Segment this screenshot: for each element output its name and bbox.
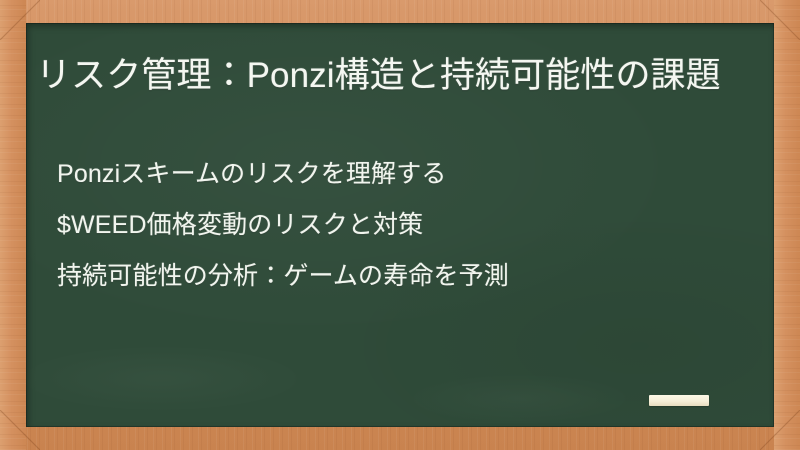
slide-title: リスク管理：Ponzi構造と持続可能性の課題 (36, 53, 752, 99)
bullet-item: $WEED価格変動のリスクと対策 (57, 200, 754, 251)
frame-rail-right (774, 0, 800, 450)
chalk-stick-icon (649, 395, 709, 406)
chalkboard-surface: リスク管理：Ponzi構造と持続可能性の課題 Ponziスキームのリスクを理解す… (26, 23, 774, 427)
bullet-list: Ponziスキームのリスクを理解する $WEED価格変動のリスクと対策 持続可能… (57, 149, 754, 302)
frame-rail-left (0, 0, 26, 450)
bullet-item: Ponziスキームのリスクを理解する (57, 149, 754, 200)
bullet-item: 持続可能性の分析：ゲームの寿命を予測 (57, 251, 754, 302)
chalkboard-slide: リスク管理：Ponzi構造と持続可能性の課題 Ponziスキームのリスクを理解す… (0, 0, 800, 450)
